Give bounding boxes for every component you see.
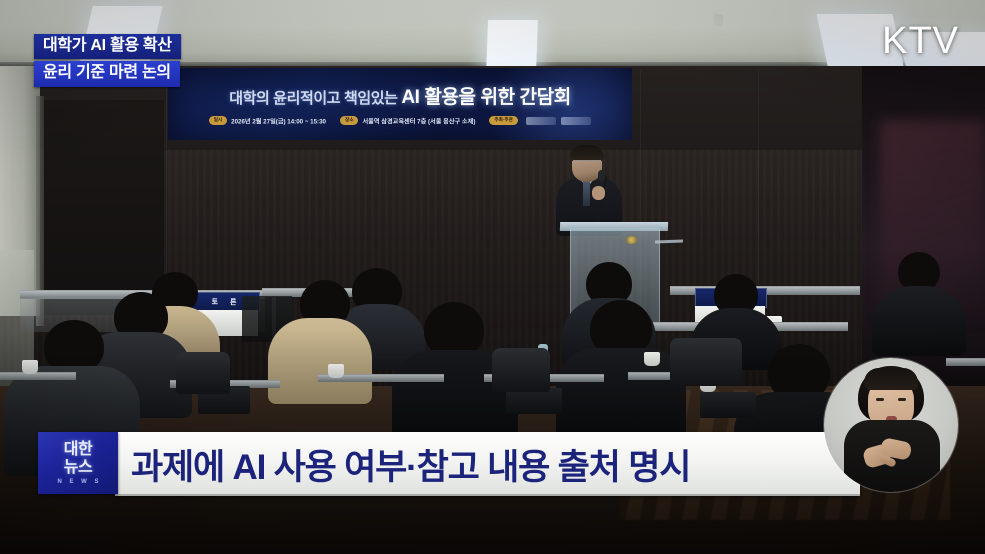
audience-torso bbox=[872, 286, 966, 356]
speaker-hand bbox=[592, 186, 605, 200]
backdrop-chip-datetime: 일시 bbox=[209, 116, 227, 125]
backdrop-chip-venue: 장소 bbox=[340, 116, 358, 125]
interpreter-fringe bbox=[864, 368, 918, 390]
event-backdrop-banner: 대학의 윤리적이고 책임있는 AI 활용을 위한 간담회 일시2026년 2월 … bbox=[168, 68, 632, 140]
headline-block: 대학가 AI 활용 확산 윤리 기준 마련 논의 bbox=[34, 34, 181, 87]
network-logo: 대한 뉴스 N E W S bbox=[38, 432, 118, 494]
audience-torso bbox=[556, 348, 686, 440]
laptop bbox=[700, 392, 756, 418]
network-logo-line-1: 대한 bbox=[64, 442, 92, 458]
headline-line-1: 대학가 AI 활용 확산 bbox=[34, 34, 181, 59]
paper-cup bbox=[644, 352, 660, 366]
host-logo-icon bbox=[526, 117, 556, 125]
broadcast-screen: 대학의 윤리적이고 책임있는 AI 활용을 위한 간담회 일시2026년 2월 … bbox=[0, 0, 985, 554]
backdrop-meta-host: 주최·주관 bbox=[489, 112, 591, 130]
speaker-hair bbox=[570, 145, 604, 161]
channel-logo: KTV bbox=[882, 22, 959, 60]
paper-cup bbox=[328, 364, 344, 378]
microphone-icon bbox=[598, 170, 605, 181]
host-logo-icon bbox=[561, 117, 591, 125]
interpreter-eye bbox=[898, 398, 906, 401]
backdrop-chip-host: 주최·주관 bbox=[489, 116, 517, 125]
network-logo-line-2: 뉴스 bbox=[64, 460, 92, 476]
paper-cup bbox=[22, 360, 38, 374]
podium-knob bbox=[626, 236, 637, 244]
caption-bottom-rule bbox=[115, 494, 860, 496]
interpreter-eye bbox=[876, 398, 884, 401]
headline-line-2: 윤리 기준 마련 논의 bbox=[34, 61, 180, 86]
desk bbox=[0, 372, 76, 380]
backdrop-value-venue: 서울역 삼경교육센터 7층 (서울 용산구 소재) bbox=[362, 118, 475, 125]
backdrop-title-highlight: AI 활용을 위한 간담회 bbox=[401, 87, 570, 108]
chair bbox=[670, 338, 742, 386]
caption-text: 과제에 AI 사용 여부·참고 내용 출처 명시 bbox=[131, 432, 852, 496]
backdrop-meta-datetime: 일시2026년 2월 27일(금) 14:00 ~ 15:30 bbox=[209, 112, 326, 130]
network-logo-subtitle: N E W S bbox=[54, 479, 101, 485]
backdrop-host-logos bbox=[526, 117, 591, 125]
audience-torso bbox=[268, 318, 372, 404]
speaker-tie bbox=[583, 180, 590, 206]
chair bbox=[176, 352, 230, 394]
chair bbox=[492, 348, 550, 392]
backdrop-title: 대학의 윤리적이고 책임있는 AI 활용을 위한 간담회 bbox=[168, 82, 632, 109]
glasses-icon bbox=[573, 160, 601, 166]
wall-panel bbox=[44, 100, 165, 315]
sprinkler-icon bbox=[714, 14, 723, 26]
sign-language-interpreter bbox=[824, 358, 958, 492]
backdrop-value-datetime: 2026년 2월 27일(금) 14:00 ~ 15:30 bbox=[231, 118, 326, 125]
lower-third-caption-bar: 과제에 AI 사용 여부·참고 내용 출처 명시 bbox=[115, 432, 860, 496]
backdrop-meta: 일시2026년 2월 27일(금) 14:00 ~ 15:30 장소서울역 삼경… bbox=[168, 112, 632, 130]
backdrop-meta-venue: 장소서울역 삼경교육센터 7층 (서울 용산구 소재) bbox=[340, 112, 475, 130]
backdrop-title-prefix: 대학의 윤리적이고 책임있는 bbox=[229, 90, 401, 107]
desk bbox=[946, 358, 985, 366]
